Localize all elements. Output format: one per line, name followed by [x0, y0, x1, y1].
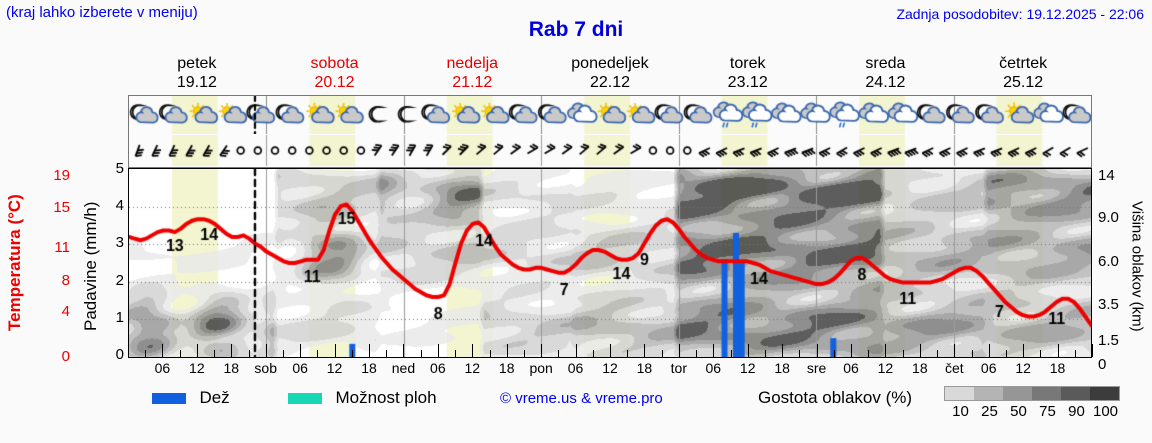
rain-color-swatch [152, 393, 186, 404]
time-label-20: 06 [843, 360, 859, 376]
time-label-26: 18 [1050, 360, 1066, 376]
time-tickmark [352, 350, 353, 357]
time-tickmark [627, 350, 628, 357]
time-tickmark [266, 344, 267, 357]
precipitation-tick-2: 3 [104, 234, 124, 251]
day-name: torek [679, 54, 817, 73]
cloud-height-tick-3: 3.5 [1098, 296, 1132, 313]
time-tickmark [524, 350, 525, 357]
time-tickmark [283, 350, 284, 357]
day-name: četrtek [954, 54, 1092, 73]
precipitation-tick-1: 4 [104, 197, 124, 214]
temperature-tick-0: 19 [36, 167, 70, 184]
time-label-13: 12 [602, 360, 618, 376]
time-label-22: 18 [912, 360, 928, 376]
time-tickmark [1040, 350, 1041, 357]
time-tickmark [920, 344, 921, 357]
time-tickmark [662, 350, 663, 357]
time-tickmark [403, 344, 404, 357]
time-tickmark [128, 344, 129, 357]
time-tickmark [989, 344, 990, 357]
weather-icon-strip [128, 95, 1092, 135]
time-tickmark [782, 344, 783, 357]
day-header-6: četrtek25.12 [954, 54, 1092, 92]
time-tickmark [937, 350, 938, 357]
day-header-1: sobota20.12 [266, 54, 404, 92]
cloud-height-tick-0: 14 [1098, 167, 1132, 184]
ramp-step-0 [945, 387, 974, 400]
wind-barb-strip [128, 135, 1092, 168]
time-tickmark [438, 344, 439, 357]
time-tickmark [249, 350, 250, 357]
time-tickmark [834, 350, 835, 357]
cloud-height-tick-4: 1.5 [1098, 332, 1132, 349]
day-date: 23.12 [679, 73, 817, 92]
ramp-number-4: 90 [1068, 403, 1085, 420]
time-label-6: 18 [361, 360, 377, 376]
time-tickmark [576, 344, 577, 357]
day-name: petek [128, 54, 266, 73]
time-tickmark [162, 344, 163, 357]
time-tickmark [455, 350, 456, 357]
time-tickmark [300, 344, 301, 357]
showers-color-swatch [288, 393, 322, 404]
time-tickmark [748, 344, 749, 357]
time-tickmark [1023, 344, 1024, 357]
time-tickmark [731, 350, 732, 357]
time-label-11: pon [529, 360, 552, 376]
time-tickmark [214, 350, 215, 357]
day-name: sreda [817, 54, 955, 73]
day-name: nedelja [403, 54, 541, 73]
cloud-height-tick-2: 6.0 [1098, 253, 1132, 270]
last-update-text: Zadnja posodobitev: 19.12.2025 - 22:06 [896, 6, 1144, 22]
ramp-step-1 [974, 387, 1003, 400]
time-tickmark [851, 344, 852, 357]
day-date: 25.12 [954, 73, 1092, 92]
time-label-21: 12 [878, 360, 894, 376]
time-tickmark [644, 344, 645, 357]
temperature-tick-5: 0 [36, 348, 70, 365]
time-tickmark [180, 350, 181, 357]
time-label-17: 12 [740, 360, 756, 376]
day-header-0: petek19.12 [128, 54, 266, 92]
time-tickmark [1058, 344, 1059, 357]
ramp-number-3: 75 [1039, 403, 1056, 420]
day-date: 22.12 [541, 73, 679, 92]
legend-showers: Možnost ploh [288, 388, 437, 408]
day-date: 24.12 [817, 73, 955, 92]
temperature-tick-1: 15 [36, 199, 70, 216]
day-header-4: torek23.12 [679, 54, 817, 92]
showers-legend-label: Možnost ploh [335, 388, 436, 407]
time-tickmark [885, 344, 886, 357]
time-tickmark [145, 350, 146, 357]
time-label-1: 12 [189, 360, 205, 376]
day-header-3: ponedeljek22.12 [541, 54, 679, 92]
legend-rain: Dež [152, 388, 230, 408]
ramp-step-4 [1061, 387, 1090, 400]
time-label-5: 12 [327, 360, 343, 376]
day-date: 20.12 [266, 73, 404, 92]
time-tickmark [421, 350, 422, 357]
day-header-2: nedelja21.12 [403, 54, 541, 92]
time-tickmark [696, 350, 697, 357]
precipitation-tick-0: 5 [104, 160, 124, 177]
rain-legend-label: Dež [199, 388, 229, 407]
time-tickmark [972, 350, 973, 357]
time-label-4: 06 [292, 360, 308, 376]
time-tickmark [197, 344, 198, 357]
time-label-8: 06 [430, 360, 446, 376]
cloud-density-color-ramp [944, 386, 1120, 401]
time-tickmark [679, 344, 680, 357]
time-label-9: 12 [464, 360, 480, 376]
precipitation-tick-4: 1 [104, 309, 124, 326]
time-tickmark [472, 344, 473, 357]
time-label-2: 18 [223, 360, 239, 376]
time-tickmark [713, 344, 714, 357]
time-label-15: tor [671, 360, 687, 376]
time-tickmark [1092, 344, 1093, 357]
time-tickmark [541, 344, 542, 357]
time-tickmark [1006, 350, 1007, 357]
time-label-3: sob [254, 360, 277, 376]
time-tickmark [317, 350, 318, 357]
cloud-height-tick-1: 9.0 [1098, 209, 1132, 226]
time-label-16: 06 [705, 360, 721, 376]
temperature-tick-3: 8 [36, 272, 70, 289]
time-label-0: 06 [155, 360, 171, 376]
time-tickmark [231, 344, 232, 357]
cloud-density-legend-title: Gostota oblakov (%) [758, 388, 912, 408]
time-tickmark [610, 344, 611, 357]
time-tickmark [903, 350, 904, 357]
temperature-tick-4: 4 [36, 303, 70, 320]
time-label-25: 12 [1015, 360, 1031, 376]
time-label-23: čet [945, 360, 964, 376]
time-tickmark [558, 350, 559, 357]
cloud-height-tick-5: 0 [1098, 356, 1132, 373]
precipitation-tick-5: 0 [104, 346, 124, 363]
day-header-5: sreda24.12 [817, 54, 955, 92]
day-name: ponedeljek [541, 54, 679, 73]
ramp-number-2: 50 [1010, 403, 1027, 420]
time-label-12: 06 [568, 360, 584, 376]
precipitation-axis-title: Padavine (mm/h) [78, 168, 104, 364]
ramp-step-2 [1003, 387, 1032, 400]
time-tickmark [954, 344, 955, 357]
time-tickmark [490, 350, 491, 357]
time-label-24: 06 [981, 360, 997, 376]
forecast-plot-area[interactable] [128, 168, 1092, 358]
day-date: 21.12 [403, 73, 541, 92]
time-label-7: ned [392, 360, 415, 376]
ramp-number-0: 10 [952, 403, 969, 420]
day-date: 19.12 [128, 73, 266, 92]
time-tickmark [765, 350, 766, 357]
copyright-link[interactable]: © vreme.us & vreme.pro [500, 390, 663, 407]
precipitation-tick-3: 2 [104, 272, 124, 289]
day-name: sobota [266, 54, 404, 73]
time-tickmark [507, 344, 508, 357]
time-tickmark [799, 350, 800, 357]
ramp-number-1: 25 [981, 403, 998, 420]
ramp-step-3 [1032, 387, 1061, 400]
time-tickmark [817, 344, 818, 357]
time-label-19: sre [807, 360, 826, 376]
time-tickmark [593, 350, 594, 357]
time-label-14: 18 [637, 360, 653, 376]
ramp-number-5: 100 [1093, 403, 1118, 420]
ramp-step-5 [1090, 387, 1119, 400]
time-tickmark [335, 344, 336, 357]
time-tickmark [386, 350, 387, 357]
temperature-tick-2: 11 [36, 239, 70, 256]
time-tickmark [369, 344, 370, 357]
time-label-10: 18 [499, 360, 515, 376]
time-label-18: 18 [774, 360, 790, 376]
temperature-axis-title: Temperatura (°C) [2, 168, 28, 358]
time-tickmark [1075, 350, 1076, 357]
time-tickmark [868, 350, 869, 357]
